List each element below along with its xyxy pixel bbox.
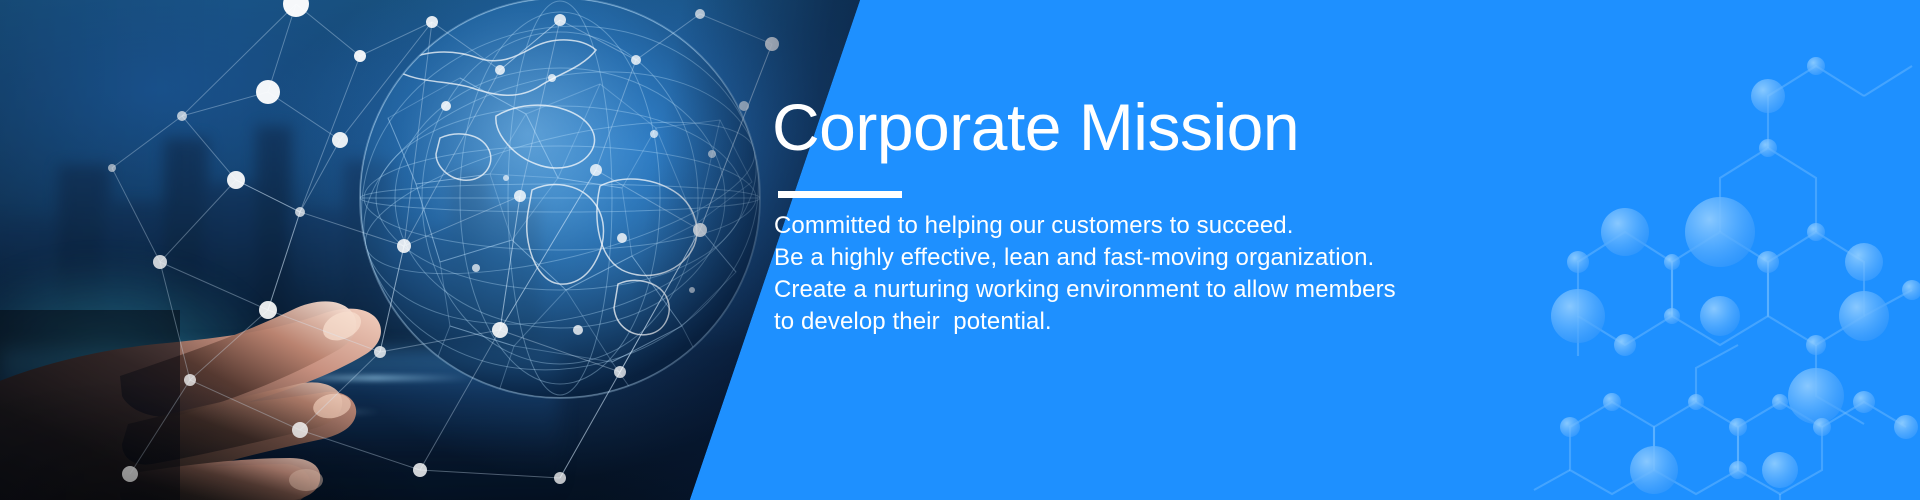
mission-line: Committed to helping our customers to su… — [774, 210, 1394, 242]
page-title: Corporate Mission — [772, 93, 1299, 162]
mission-statement-list: Committed to helping our customers to su… — [774, 210, 1394, 338]
corporate-mission-banner: Corporate Mission Committed to helping o… — [0, 0, 1920, 500]
mission-line: Create a nurturing working environment t… — [774, 274, 1394, 306]
mission-content: Corporate Mission Committed to helping o… — [772, 0, 1672, 500]
mission-line: to develop their potential. — [774, 306, 1394, 338]
mission-line: Be a highly effective, lean and fast-mov… — [774, 242, 1394, 274]
title-divider — [778, 191, 902, 198]
